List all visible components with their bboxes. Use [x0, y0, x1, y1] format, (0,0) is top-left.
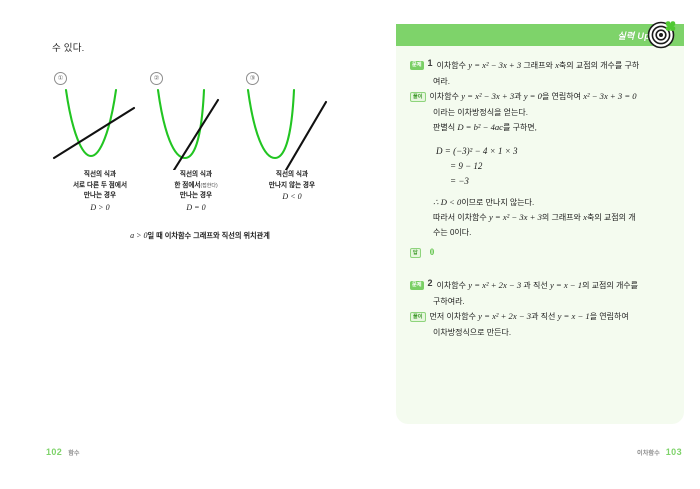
- figure-2-number: ②: [150, 72, 163, 85]
- problem-2-solution-badge: 풀이: [410, 312, 426, 322]
- left-page-footer: 102 함수: [46, 447, 80, 457]
- skill-up-panel: 실력 Up 문제 1 이차함수 y = x² − 3x + 3: [396, 24, 684, 424]
- figure-3-discriminant: D < 0: [240, 192, 344, 203]
- p1-concl1-text: 이므로 만나지 않는다.: [461, 198, 534, 207]
- problem-2-solution-line2: 이차방정식으로 만든다.: [433, 326, 668, 341]
- p2-sol1-math2: y = x − 1: [558, 311, 590, 321]
- problem-1-calculation: D = (−3)² − 4 × 1 × 3 = 9 − 12 = −3: [436, 144, 668, 189]
- problem-2-number: 2: [428, 278, 433, 288]
- figure-1: ① 직선의 식과 서로 다른 두 점에서 만나는 경우 D > 0: [48, 72, 152, 232]
- right-page-number: 103: [666, 447, 682, 457]
- left-page-number: 102: [46, 447, 62, 457]
- figure-main-caption: a > 0일 때 이차함수 그래프와 직선의 위치관계: [40, 231, 360, 241]
- figure-3-caption: 직선의 식과 만나지 않는 경우 D < 0: [240, 170, 344, 203]
- problem-1-q-math: y = x² − 3x + 3: [468, 60, 521, 70]
- p1-concl1-math: D < 0: [441, 197, 462, 207]
- p1-concl2-pre: 따라서 이차함수: [433, 213, 489, 222]
- problem-1-solution-badge: 풀이: [410, 92, 426, 102]
- lead-text: 수 있다.: [52, 40, 85, 54]
- right-page: 실력 Up 문제 1 이차함수 y = x² − 3x + 3: [390, 0, 700, 489]
- figure-3: ③ 직선의 식과 만나지 않는 경우 D < 0: [240, 72, 344, 232]
- problem-1-solution-line1: 이차함수 y = x² − 3x + 3과 y = 0을 연립하여 x² − 3…: [430, 89, 637, 105]
- figure-3-graph: [240, 86, 344, 170]
- problem-2-question-line2: 구하여라.: [433, 295, 668, 310]
- p1-sol3-pre: 판별식: [433, 123, 457, 132]
- figure-1-caption: 직선의 식과 서로 다른 두 점에서 만나는 경우 D > 0: [48, 170, 152, 213]
- problem-2-badge: 문제: [410, 281, 424, 290]
- problem-1-answer-value: 0: [430, 247, 435, 257]
- figure-3-number: ③: [246, 72, 259, 85]
- problem-1-conclusion-3: 수는 0이다.: [433, 226, 668, 241]
- problem-2-question: 문제 2 이차함수 y = x² + 2x − 3 과 직선 y = x − 1…: [410, 278, 668, 294]
- figure-2-caption-line2: 한 점에서: [174, 182, 200, 189]
- figure-1-caption-line1: 직선의 식과: [84, 171, 116, 178]
- problem-1-badge: 문제: [410, 61, 424, 70]
- problem-1-q-mid: 그래프와: [523, 61, 552, 70]
- p2-sol1-math: y = x² + 2x − 3: [478, 311, 531, 321]
- problem-1-question-line2: 여라.: [433, 75, 668, 90]
- problem-1-answer-badge: 답: [410, 248, 421, 258]
- figure-1-discriminant: D > 0: [48, 203, 152, 214]
- problem-1-q-pre: 이차함수: [437, 61, 466, 70]
- p1-sol1-math3: x² − 3x + 3 = 0: [583, 91, 636, 101]
- p1-sol1-math: y = x² − 3x + 3: [461, 91, 514, 101]
- problem-2-q-post: 의 교점의 개수를: [582, 281, 638, 290]
- right-page-footer: 이차함수 103: [637, 447, 682, 457]
- figure-1-caption-line2: 서로 다른 두 점에서: [73, 182, 127, 189]
- problem-2-q-pre: 이차함수: [437, 281, 466, 290]
- figure-2-caption-line3: 만나는 경우: [180, 192, 212, 199]
- figure-2-caption-line1: 직선의 식과: [180, 171, 212, 178]
- p1-concl2-post2: 축의 교점의 개: [587, 213, 636, 222]
- figure-1-graph: [48, 86, 152, 170]
- problem-2-q-math: y = x² + 2x − 3: [468, 280, 521, 290]
- figure-2-discriminant: D = 0: [144, 203, 248, 214]
- problem-1-solution-line3: 판별식 D = b² − 4ac를 구하면,: [433, 120, 668, 136]
- calc-row-2: = 9 − 12: [436, 159, 668, 174]
- problem-1-conclusion-1: ∴ D < 0이므로 만나지 않는다.: [433, 195, 668, 211]
- right-page-section-label: 이차함수: [637, 448, 660, 457]
- therefore-symbol: ∴: [433, 197, 438, 207]
- p1-sol3-math: D = b² − 4ac: [457, 122, 503, 132]
- p1-sol1-post: 을 연립하여: [542, 92, 583, 101]
- p1-concl2-math: y = x² − 3x + 3: [489, 212, 542, 222]
- figure-1-caption-line3: 만나는 경우: [84, 192, 116, 199]
- figure-main-caption-math: a > 0: [130, 231, 147, 240]
- problem-1-question-text: 이차함수 y = x² − 3x + 3 그래프와 x축의 교점의 개수를 구하: [437, 58, 640, 74]
- figure-3-caption-line1: 직선의 식과: [276, 171, 308, 178]
- figure-2-caption: 직선의 식과 한 점에서(접한다) 만나는 경우 D = 0: [144, 170, 248, 213]
- problem-2-solution-line1: 먼저 이차함수 y = x² + 2x − 3과 직선 y = x − 1을 연…: [430, 309, 629, 325]
- p1-concl2-post: 의 그래프와: [542, 213, 583, 222]
- figure-3-caption-line3: 만나지 않는 경우: [269, 182, 315, 189]
- figure-1-number: ①: [54, 72, 67, 85]
- p1-sol3-post: 를 구하면,: [503, 123, 537, 132]
- problem-1-number: 1: [428, 58, 433, 68]
- figure-2-graph: [144, 86, 248, 170]
- p1-sol1-pre: 이차함수: [430, 92, 462, 101]
- panel-body: 문제 1 이차함수 y = x² − 3x + 3 그래프와 x축의 교점의 개…: [396, 46, 684, 424]
- figure-group: ① 직선의 식과 서로 다른 두 점에서 만나는 경우 D > 0 ②: [40, 72, 360, 232]
- figure-2-caption-note: (접한다): [200, 183, 217, 189]
- problem-1-answer: 답 0: [410, 245, 668, 258]
- calc-row-3: = −3: [436, 174, 668, 189]
- problem-2-question-text: 이차함수 y = x² + 2x − 3 과 직선 y = x − 1의 교점의…: [437, 278, 638, 294]
- left-page-section-label: 함수: [68, 448, 79, 457]
- problem-2-q-mid: 과 직선: [523, 281, 547, 290]
- problem-1-conclusion-2: 따라서 이차함수 y = x² − 3x + 3의 그래프와 x축의 교점의 개: [433, 210, 668, 226]
- panel-header: 실력 Up: [396, 24, 684, 46]
- problem-spacer: [410, 258, 668, 278]
- p1-sol1-mid: 과: [514, 92, 524, 101]
- left-page: 수 있다. ① 직선의 식과 서로 다른 두 점에서 만나는 경우 D > 0 …: [0, 0, 390, 489]
- problem-1-q-post: 축의 교점의 개수를 구하: [559, 61, 639, 70]
- problem-1-solution-line2: 이라는 이차방정식을 얻는다.: [433, 106, 668, 121]
- figure-main-caption-text: 일 때 이차함수 그래프와 직선의 위치관계: [148, 231, 270, 240]
- problem-1-question: 문제 1 이차함수 y = x² − 3x + 3 그래프와 x축의 교점의 개…: [410, 58, 668, 74]
- book-spread: 수 있다. ① 직선의 식과 서로 다른 두 점에서 만나는 경우 D > 0 …: [0, 0, 700, 489]
- p2-sol1-pre: 먼저 이차함수: [430, 312, 479, 321]
- p2-sol1-mid: 과 직선: [531, 312, 558, 321]
- problem-1-solution-start: 풀이 이차함수 y = x² − 3x + 3과 y = 0을 연립하여 x² …: [410, 89, 668, 105]
- problem-2-solution-start: 풀이 먼저 이차함수 y = x² + 2x − 3과 직선 y = x − 1…: [410, 309, 668, 325]
- p2-sol1-post: 을 연립하여: [590, 312, 629, 321]
- figure-2: ② 직선의 식과 한 점에서(접한다) 만나는 경우 D = 0: [144, 72, 248, 232]
- p1-sol1-math2: y = 0: [524, 91, 542, 101]
- problem-2-q-math2: y = x − 1: [550, 280, 582, 290]
- calc-row-1: D = (−3)² − 4 × 1 × 3: [436, 144, 668, 159]
